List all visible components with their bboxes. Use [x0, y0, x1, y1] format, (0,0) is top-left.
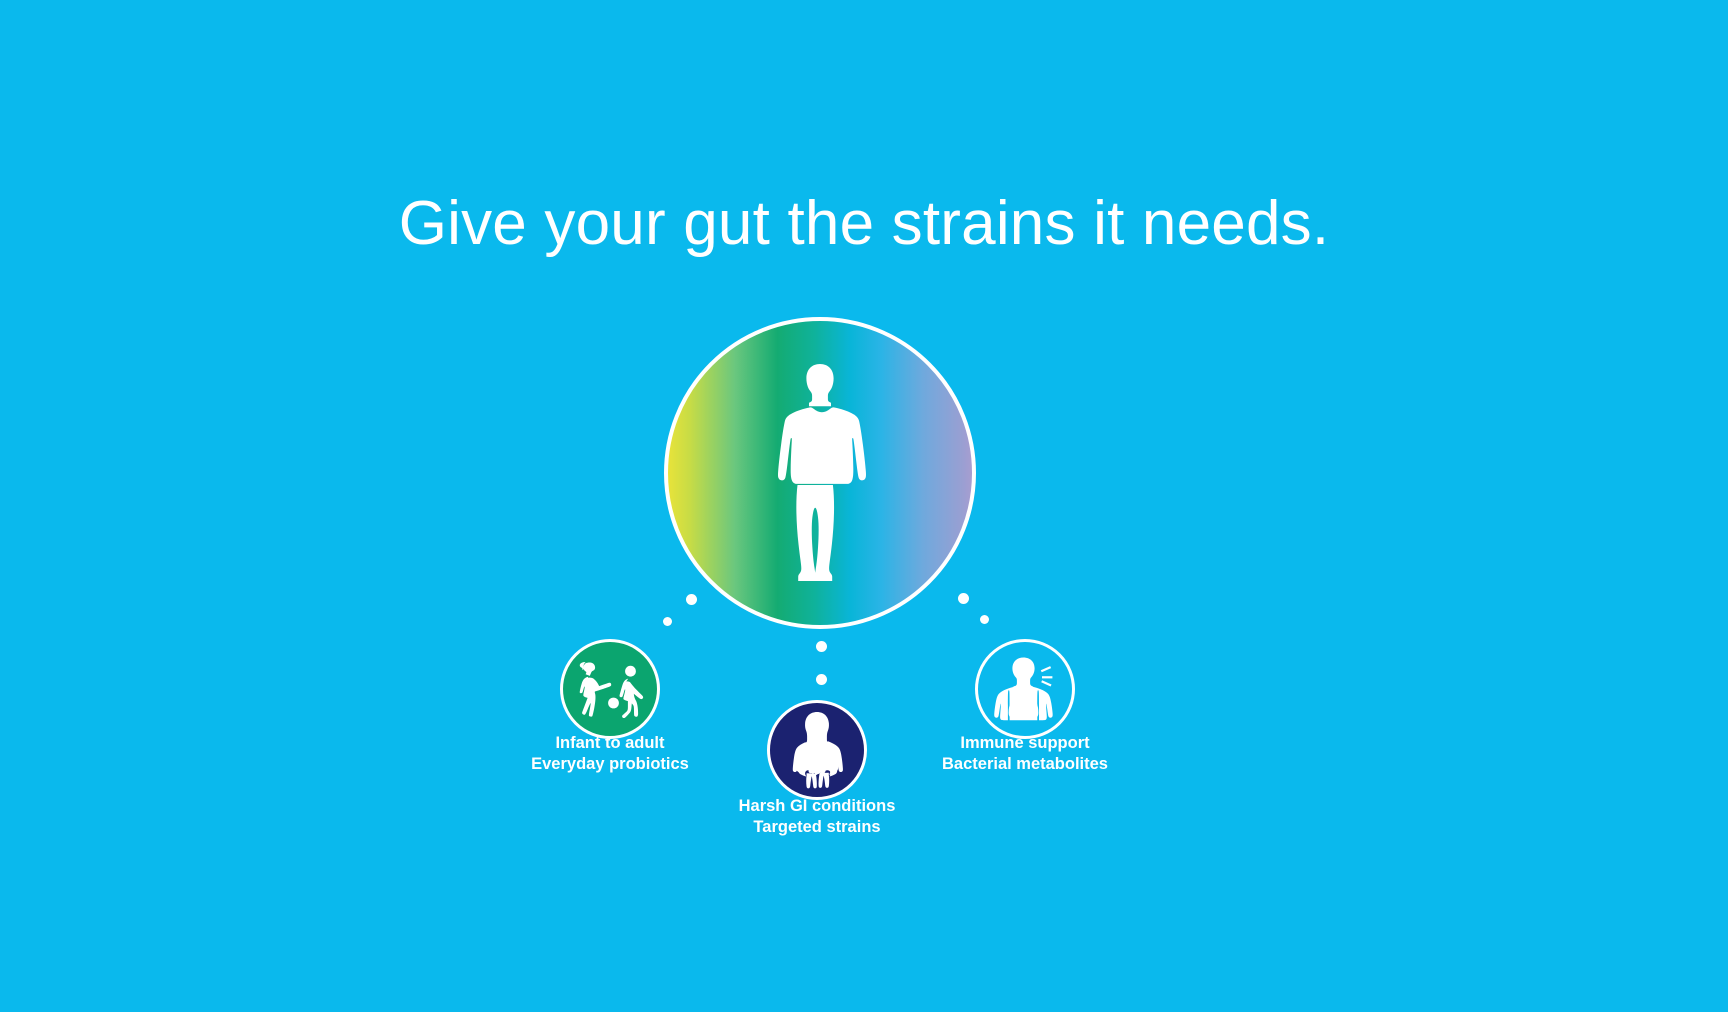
- hero-graphic-canvas: Give your gut the strains it needs.: [0, 0, 1728, 1012]
- node-label-line1: Infant to adult: [555, 734, 664, 752]
- standing-human-figure-icon: [757, 362, 883, 584]
- node-circle-immune-support[interactable]: [975, 639, 1075, 739]
- children-playing-soccer-icon: [573, 660, 647, 718]
- connector-dot: [816, 641, 827, 652]
- node-circle-harsh-gi-conditions[interactable]: [767, 700, 867, 800]
- node-label-infant-to-adult: Infant to adult Everyday probiotics: [460, 733, 760, 775]
- node-label-line1: Immune support: [960, 734, 1089, 752]
- node-label-line2: Everyday probiotics: [460, 754, 760, 775]
- connector-dot: [958, 593, 969, 604]
- node-circle-infant-to-adult[interactable]: [560, 639, 660, 739]
- person-stomach-pain-icon: [784, 711, 850, 789]
- hero-gradient-circle: [664, 317, 976, 629]
- connector-dot: [816, 674, 827, 685]
- connector-dot: [663, 617, 672, 626]
- node-label-harsh-gi-conditions: Harsh GI conditions Targeted strains: [667, 796, 967, 838]
- person-lungs-cough-icon: [987, 655, 1063, 723]
- node-label-immune-support: Immune support Bacterial metabolites: [875, 733, 1175, 775]
- connector-dot: [686, 594, 697, 605]
- node-label-line1: Harsh GI conditions: [739, 797, 896, 815]
- node-label-line2: Targeted strains: [667, 817, 967, 838]
- node-label-line2: Bacterial metabolites: [875, 754, 1175, 775]
- connector-dot: [980, 615, 989, 624]
- page-headline: Give your gut the strains it needs.: [0, 190, 1728, 258]
